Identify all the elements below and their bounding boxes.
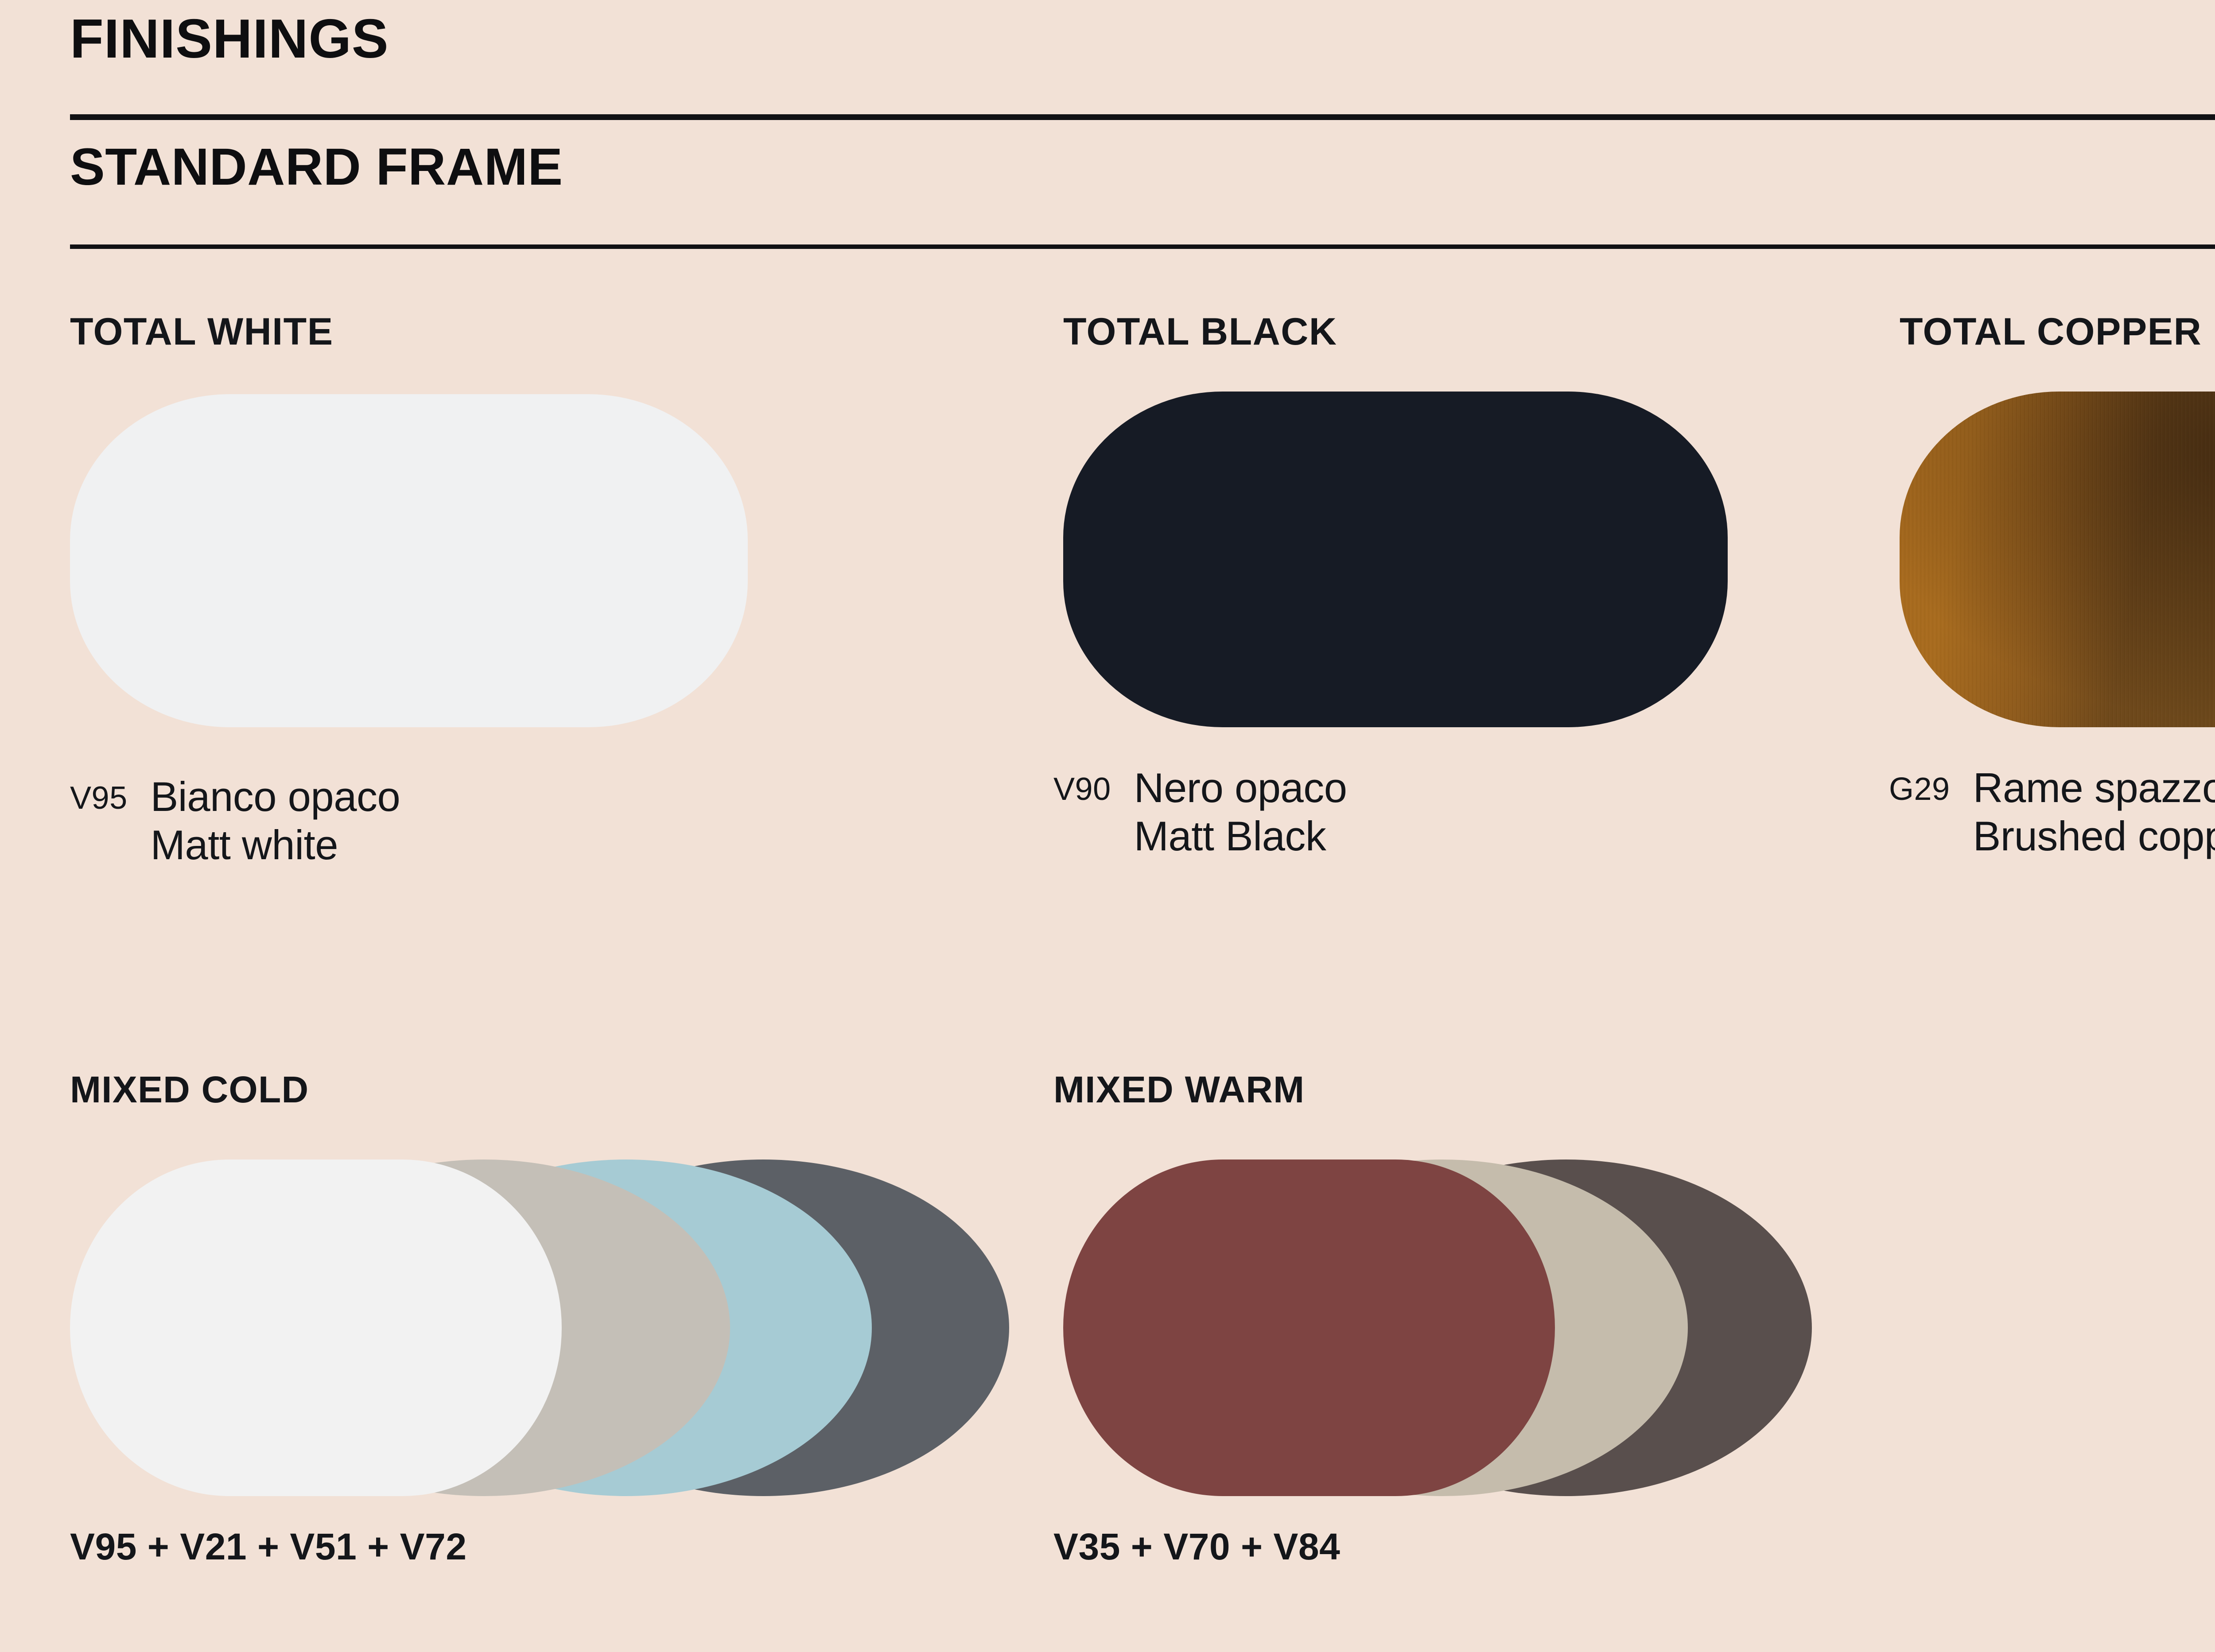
group-label-mixed-warm: MIXED WARM (1053, 1071, 1305, 1108)
caption-total-white: V95 Bianco opaco Matt white (70, 772, 400, 869)
finish-name-it-g29: Rame spazzolato (1973, 764, 2215, 812)
finish-name-en-v90: Matt Black (1134, 812, 1347, 860)
finishings-page: FINISHINGS STANDARD FRAME TOTAL WHITE TO… (0, 0, 2215, 1652)
swatch-layer-v95 (70, 1160, 562, 1496)
mixed-cold-codes: V95 + V21 + V51 + V72 (70, 1528, 467, 1565)
swatch-total-copper[interactable] (1900, 392, 2215, 727)
divider-section (70, 244, 2215, 249)
finish-name-it-v95: Bianco opaco (151, 772, 400, 821)
mixed-warm-codes: V35 + V70 + V84 (1053, 1528, 1340, 1565)
finish-code-v90: V90 (1053, 764, 1111, 805)
swatch-total-black[interactable] (1063, 392, 1728, 727)
finish-names-total-black: Nero opaco Matt Black (1134, 764, 1347, 860)
caption-total-copper: G29 Rame spazzolato Brushed copper (1889, 764, 2215, 860)
swatch-total-white[interactable] (70, 394, 748, 727)
finish-names-total-copper: Rame spazzolato Brushed copper (1973, 764, 2215, 860)
finish-name-en-v95: Matt white (151, 821, 400, 869)
group-label-total-copper: TOTAL COPPER (1900, 313, 2202, 351)
group-label-total-white: TOTAL WHITE (70, 313, 334, 351)
page-title: FINISHINGS (70, 12, 389, 66)
group-label-mixed-cold: MIXED COLD (70, 1071, 309, 1108)
swatch-stack-mixed-cold[interactable] (70, 1160, 1009, 1496)
swatch-stack-mixed-warm[interactable] (1063, 1160, 1812, 1496)
finish-name-en-g29: Brushed copper (1973, 812, 2215, 860)
finish-name-it-v90: Nero opaco (1134, 764, 1347, 812)
swatch-layer-v35 (1063, 1160, 1555, 1496)
group-label-total-black: TOTAL BLACK (1063, 313, 1337, 351)
section-title-standard-frame: STANDARD FRAME (70, 141, 563, 193)
finish-code-g29: G29 (1889, 764, 1950, 805)
caption-total-black: V90 Nero opaco Matt Black (1053, 764, 1347, 860)
finish-code-v95: V95 (70, 772, 128, 814)
finish-names-total-white: Bianco opaco Matt white (151, 772, 400, 869)
divider-top (70, 114, 2215, 120)
